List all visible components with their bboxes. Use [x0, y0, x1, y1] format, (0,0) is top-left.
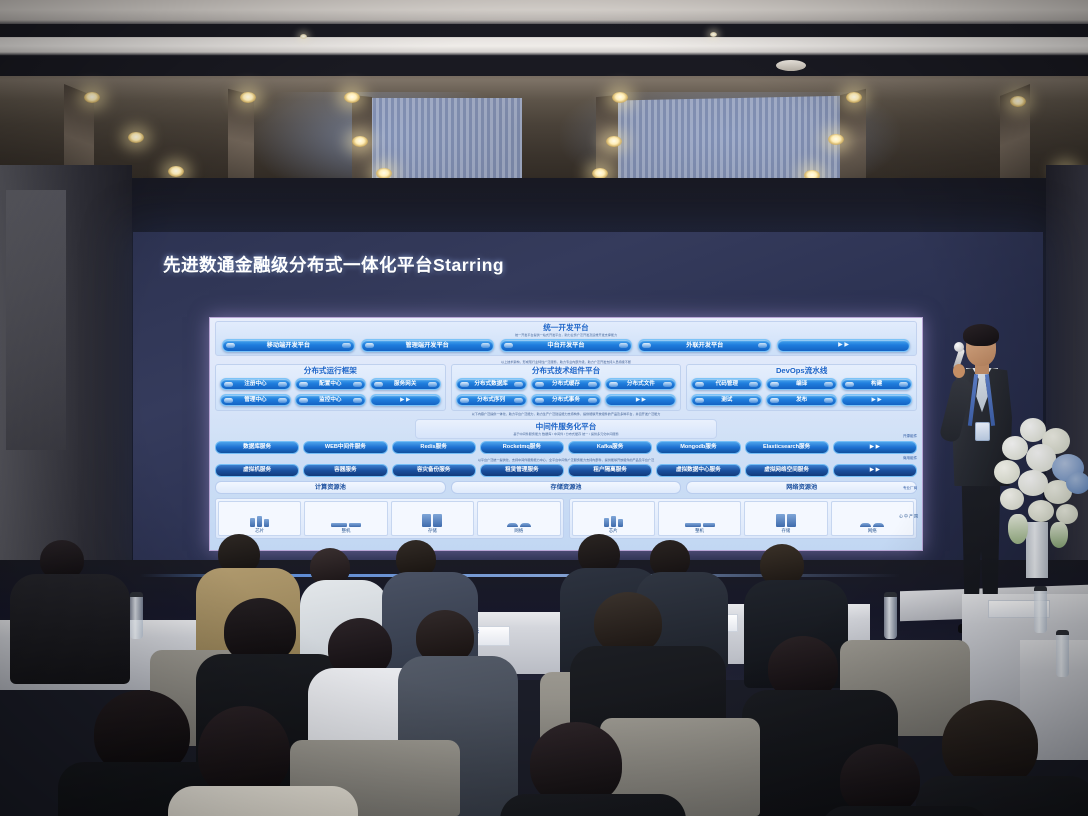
- hw-storage-left: 存储: [391, 501, 474, 536]
- water-bottle: [884, 592, 897, 639]
- tech-components-col: 分布式技术组件平台 分布式数据库 分布式缓存 分布式文件 分布式序列 分布式事务…: [451, 364, 682, 411]
- pill-compile[interactable]: 编译: [766, 378, 837, 390]
- tech-components-title: 分布式技术组件平台: [452, 365, 681, 376]
- pill-distributed-transaction[interactable]: 分布式事务: [531, 394, 602, 406]
- pill-distributed-cache[interactable]: 分布式缓存: [531, 378, 602, 390]
- hardware-group-left: 芯片 整机 存储 网络: [215, 498, 564, 539]
- middle-note: 以下内容广泛提供一体化，助力平台广泛能力，助力生产广泛建设能力支持构件，提供能够…: [210, 411, 922, 416]
- side-tag-vendor: 专业厂商: [900, 486, 920, 491]
- hw-network-left: 网络: [477, 501, 560, 536]
- network-icon: [507, 511, 531, 527]
- svc-container[interactable]: 容器服务: [303, 464, 387, 477]
- svc-mongodb[interactable]: Mongodb服务: [656, 441, 740, 454]
- svc-more-middleware[interactable]: ▶ ▶: [833, 441, 917, 454]
- devops-row2: 测试 发布 ▶ ▶: [687, 392, 916, 408]
- hw-network-right: 网络: [831, 501, 914, 536]
- svc-virtual-network[interactable]: 虚拟网络空间服务: [745, 464, 829, 477]
- pill-management-center[interactable]: 管理中心: [220, 394, 291, 406]
- hw-chip-right: 芯片: [572, 501, 655, 536]
- storage-icon: [776, 511, 796, 527]
- pill-more-devops[interactable]: ▶ ▶: [841, 394, 912, 406]
- unified-platform-band: 统一开发平台 统一开发平台提供一站式开发平台，助力业务广泛开发及运维开发支撑能力…: [215, 321, 917, 356]
- svc-more-cloud[interactable]: ▶ ▶: [833, 464, 917, 477]
- pill-service-gateway[interactable]: 服务网关: [370, 378, 441, 390]
- pill-distributed-file[interactable]: 分布式文件: [605, 378, 676, 390]
- side-tag-domestic-center: 国产中心: [910, 514, 919, 518]
- ceiling-vent: [776, 60, 806, 71]
- svc-database[interactable]: 数据库服务: [215, 441, 299, 454]
- side-tag-opensource: 开源组件: [900, 434, 920, 439]
- resource-pools: 计算资源池 存储资源池 网络资源池: [210, 480, 922, 497]
- left-wall-panel: [6, 190, 66, 450]
- svc-elasticsearch[interactable]: Elasticsearch服务: [745, 441, 829, 454]
- pool-network[interactable]: 网络资源池: [686, 481, 917, 494]
- svc-tenant-isolation[interactable]: 租户隔离服务: [568, 464, 652, 477]
- pill-midplatform-dev[interactable]: 中台开发平台: [500, 339, 633, 352]
- pill-admin-dev[interactable]: 管理端开发平台: [361, 339, 494, 352]
- server-icon: [685, 511, 715, 527]
- pool-compute[interactable]: 计算资源池: [215, 481, 446, 494]
- pill-release[interactable]: 发布: [766, 394, 837, 406]
- side-tag-commercial: 商用组件: [900, 456, 920, 461]
- conference-room-photo: 先进数通金融级分布式一体化平台Starring 统一开发平台 统一开发平台提供一…: [0, 0, 1088, 816]
- water-bottle: [1034, 586, 1047, 633]
- pill-more-tech[interactable]: ▶ ▶: [605, 394, 676, 406]
- runtime-framework-row2: 管理中心 监控中心 ▶ ▶: [216, 392, 445, 408]
- hardware-layer: 芯片 整机 存储 网络: [210, 497, 922, 542]
- devops-row1: 代码管理 编译 构建: [687, 376, 916, 392]
- tech-components-row2: 分布式序列 分布式事务 ▶ ▶: [452, 392, 681, 408]
- devops-title: DevOps流水线: [687, 365, 916, 376]
- middle-columns: 分布式运行框架 注册中心 配置中心 服务网关 管理中心 监控中心 ▶ ▶ 分布式…: [210, 364, 922, 411]
- pill-external-dev[interactable]: 外联开发平台: [638, 339, 771, 352]
- middleware-subtitle: 基于中间件服务能力 数据库 / 中间件 / 分布式缓存 统一 / 提供多元化中间…: [416, 432, 716, 436]
- pill-distributed-sequence[interactable]: 分布式序列: [456, 394, 527, 406]
- tech-components-row1: 分布式数据库 分布式缓存 分布式文件: [452, 376, 681, 392]
- water-bottle: [1056, 630, 1069, 677]
- pill-code-management[interactable]: 代码管理: [691, 378, 762, 390]
- svc-kafka[interactable]: Kafka服务: [568, 441, 652, 454]
- unified-platform-items: 移动端开发平台 管理端开发平台 中台开发平台 外联开发平台 ▶ ▶: [216, 337, 916, 355]
- cloud-services: 虚拟机服务 容器服务 容灾备份服务 租赁管理服务 租户隔离服务 虚拟数据中心服务…: [210, 462, 922, 480]
- runtime-framework-col: 分布式运行框架 注册中心 配置中心 服务网关 管理中心 监控中心 ▶ ▶: [215, 364, 446, 411]
- storage-icon: [422, 511, 442, 527]
- slide-content: 统一开发平台 统一开发平台提供一站式开发平台，助力业务广泛开发及运维开发支撑能力…: [209, 317, 923, 551]
- svc-virtual-datacenter[interactable]: 虚拟数据中心服务: [656, 464, 740, 477]
- middleware-header: 中间件服务化平台 基于中间件服务能力 数据库 / 中间件 / 分布式缓存 统一 …: [415, 419, 717, 439]
- hw-chip-left: 芯片: [218, 501, 301, 536]
- pill-registry-center[interactable]: 注册中心: [220, 378, 291, 390]
- svc-web-middleware[interactable]: WEB中间件服务: [303, 441, 387, 454]
- middleware-title: 中间件服务化平台: [416, 421, 716, 432]
- runtime-framework-title: 分布式运行框架: [216, 365, 445, 376]
- chip-icon: [250, 511, 269, 527]
- pill-monitor-center[interactable]: 监控中心: [295, 394, 366, 406]
- floral-arrangement: [990, 418, 1088, 558]
- pill-distributed-db[interactable]: 分布式数据库: [456, 378, 527, 390]
- hw-storage-right: 存储: [744, 501, 827, 536]
- network-icon: [860, 511, 884, 527]
- svc-redis[interactable]: Redis服务: [392, 441, 476, 454]
- pill-build[interactable]: 构建: [841, 378, 912, 390]
- pool-storage[interactable]: 存储资源池: [451, 481, 682, 494]
- pill-more-unified[interactable]: ▶ ▶: [777, 339, 910, 352]
- water-bottle: [130, 592, 143, 639]
- hw-server-right: 整机: [658, 501, 741, 536]
- pill-config-center[interactable]: 配置中心: [295, 378, 366, 390]
- svc-rocketmq[interactable]: Rocketmq服务: [480, 441, 564, 454]
- pill-test[interactable]: 测试: [691, 394, 762, 406]
- chip-icon: [604, 511, 623, 527]
- unified-platform-title: 统一开发平台: [216, 322, 916, 333]
- server-icon: [331, 511, 361, 527]
- hardware-group-right: 芯片 整机 存储 网络: [569, 498, 918, 539]
- projection-screen: 先进数通金融级分布式一体化平台Starring 统一开发平台 统一开发平台提供一…: [133, 232, 1043, 572]
- runtime-framework-row1: 注册中心 配置中心 服务网关: [216, 376, 445, 392]
- svc-lease-management[interactable]: 租赁管理服务: [480, 464, 564, 477]
- badge: [975, 422, 990, 441]
- devops-col: DevOps流水线 代码管理 编译 构建 测试 发布 ▶ ▶: [686, 364, 917, 411]
- ceiling: [0, 0, 1088, 200]
- pill-more-runtime[interactable]: ▶ ▶: [370, 394, 441, 406]
- hw-server-left: 整机: [304, 501, 387, 536]
- svc-virtual-machine[interactable]: 虚拟机服务: [215, 464, 299, 477]
- pill-mobile-dev[interactable]: 移动端开发平台: [222, 339, 355, 352]
- middleware-services: 数据库服务 WEB中间件服务 Redis服务 Rocketmq服务 Kafka服…: [210, 439, 922, 457]
- svc-disaster-backup[interactable]: 容灾备份服务: [392, 464, 476, 477]
- slide-title: 先进数通金融级分布式一体化平台Starring: [163, 252, 504, 277]
